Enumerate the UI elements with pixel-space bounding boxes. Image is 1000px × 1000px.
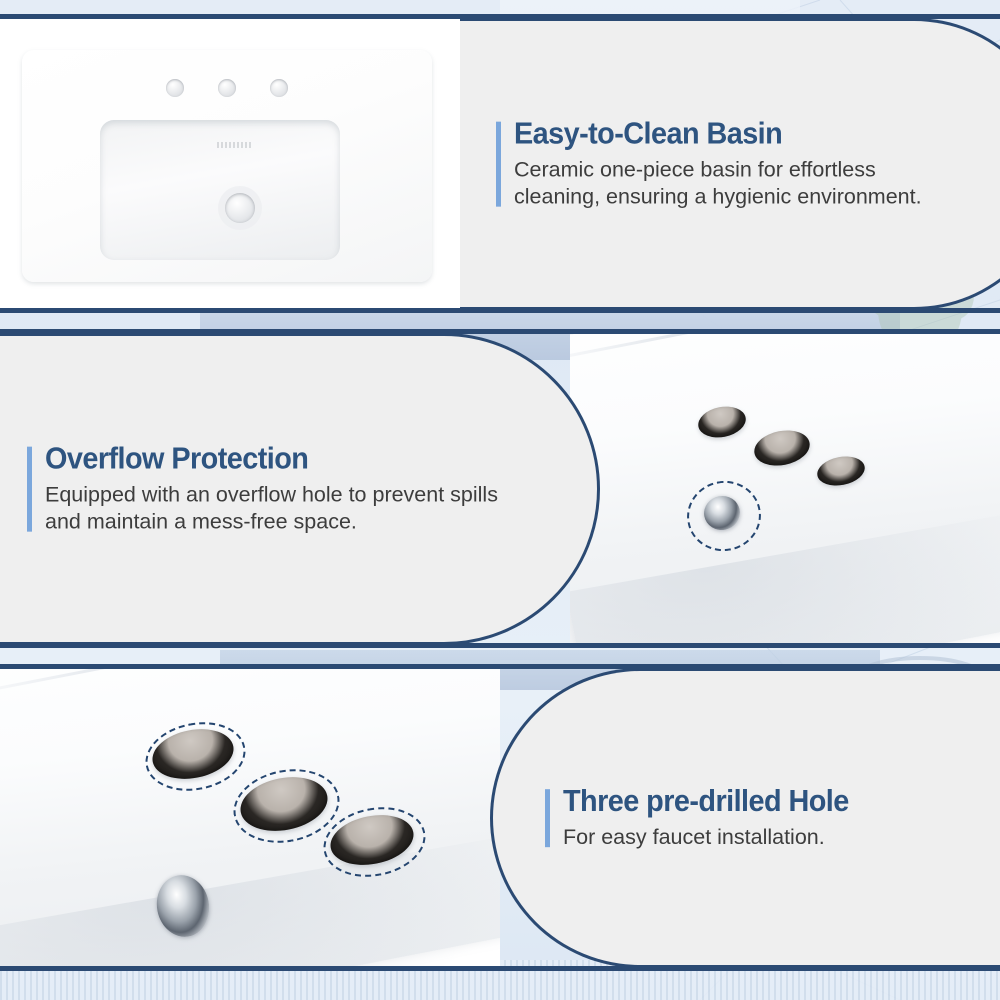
divider-rule-2: [0, 329, 1000, 334]
panel-heading: Three pre-drilled Hole: [563, 785, 937, 818]
feature-panel-overflow-protection: Overflow Protection Equipped with an ove…: [0, 333, 1000, 645]
panel-body-text: Ceramic one-piece basin for effortless c…: [514, 156, 966, 210]
text-card-easy-to-clean-basin: Easy-to-Clean Basin Ceramic one-piece ba…: [460, 18, 1000, 310]
pre-drilled-holes-closeup-photo: [0, 668, 500, 968]
accent-bar: [545, 789, 550, 847]
accent-bar: [496, 122, 501, 207]
sink-top-view-photo: [0, 18, 470, 310]
divider-rule-top: [0, 14, 1000, 19]
feature-panel-three-pre-drilled-hole: Three pre-drilled Hole For easy faucet i…: [0, 668, 1000, 968]
accent-bar: [27, 447, 32, 532]
feature-panel-easy-to-clean-basin: Easy-to-Clean Basin Ceramic one-piece ba…: [0, 18, 1000, 310]
divider-rule-bottom: [0, 966, 1000, 971]
text-card-overflow-protection: Overflow Protection Equipped with an ove…: [0, 333, 600, 645]
panel-body-text: Equipped with an overflow hole to preven…: [45, 481, 507, 535]
panel-heading: Easy-to-Clean Basin: [514, 118, 934, 151]
divider-rule-4: [0, 664, 1000, 669]
panel-body-text: For easy faucet installation.: [563, 824, 965, 851]
overflow-hole-closeup-photo: [570, 333, 1000, 645]
infographic-stage: Easy-to-Clean Basin Ceramic one-piece ba…: [0, 0, 1000, 1000]
panel-heading: Overflow Protection: [45, 443, 475, 476]
divider-rule-3: [0, 643, 1000, 648]
divider-rule-1: [0, 308, 1000, 313]
text-card-three-pre-drilled-hole: Three pre-drilled Hole For easy faucet i…: [490, 668, 1000, 968]
